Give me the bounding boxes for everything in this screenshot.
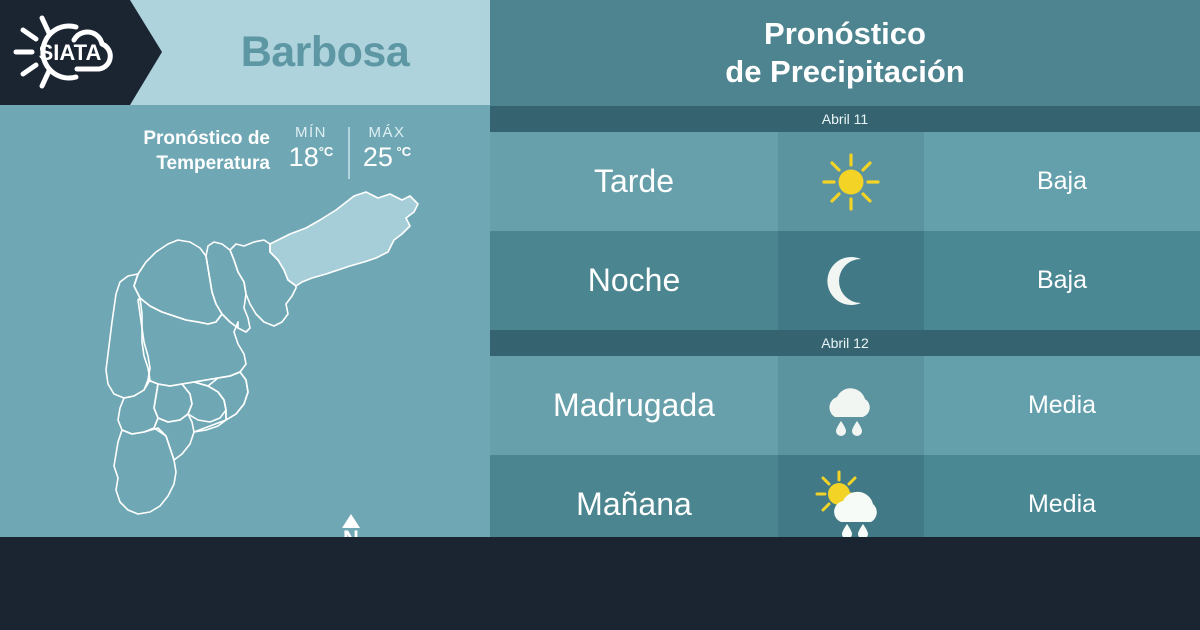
temperature-min-label: MÍN bbox=[295, 124, 327, 141]
precip-level: Media bbox=[1028, 490, 1096, 519]
temperature-max-value: 25 °C bbox=[363, 142, 411, 173]
temperature-max-label: MÁX bbox=[368, 124, 405, 141]
precip-level: Baja bbox=[1037, 167, 1087, 196]
table-row[interactable]: Noche Baja bbox=[490, 231, 1200, 330]
page-title: Barbosa bbox=[160, 0, 490, 105]
forecast-panel: Pronóstico de Precipitación Abril 11 Tar… bbox=[490, 0, 1200, 537]
table-row[interactable]: Tarde bbox=[490, 132, 1200, 231]
sun-icon bbox=[818, 149, 884, 215]
map-svg bbox=[58, 182, 458, 534]
date-bar-day1: Abril 11 bbox=[490, 106, 1200, 132]
period-cell: Madrugada bbox=[490, 356, 778, 455]
temperature-title: Pronóstico de Temperatura bbox=[70, 126, 270, 176]
siata-logo-banner[interactable]: SIATA bbox=[0, 0, 162, 105]
aburra-valley-map[interactable]: N bbox=[58, 182, 458, 534]
infographic-root: Barbosa SIATA Pronóstico de Tempe bbox=[0, 0, 1200, 630]
period-label: Mañana bbox=[576, 486, 692, 523]
max-unit: °C bbox=[397, 144, 412, 159]
temperature-min: MÍN 18°C bbox=[280, 124, 342, 173]
precip-level: Baja bbox=[1037, 266, 1087, 295]
period-label: Madrugada bbox=[553, 387, 715, 424]
forecast-title-line2: de Precipitación bbox=[725, 53, 964, 91]
table-row[interactable]: Madrugada Media bbox=[490, 356, 1200, 455]
min-number: 18 bbox=[289, 142, 319, 172]
min-unit: °C bbox=[319, 144, 334, 159]
temperature-max: MÁX 25 °C bbox=[356, 124, 418, 173]
temperature-title-line2: Temperatura bbox=[156, 153, 270, 174]
temperature-min-value: 18°C bbox=[289, 142, 334, 173]
temperature-title-line1: Pronóstico de bbox=[143, 128, 270, 149]
forecast-title-line1: Pronóstico bbox=[764, 15, 926, 53]
map-region-highlight bbox=[270, 192, 418, 286]
temperature-divider bbox=[348, 127, 350, 179]
moon-rain-icon bbox=[813, 373, 889, 439]
period-cell: Noche bbox=[490, 231, 778, 330]
weather-icon-cell bbox=[778, 231, 924, 330]
forecast-rows: Abril 11 Tarde bbox=[490, 106, 1200, 554]
precip-level: Media bbox=[1028, 391, 1096, 420]
weather-icon-cell bbox=[778, 356, 924, 455]
period-label: Tarde bbox=[594, 163, 674, 200]
sun-cloud-icon: SIATA bbox=[12, 10, 130, 94]
forecast-title: Pronóstico de Precipitación bbox=[490, 0, 1200, 106]
sun-rain-icon bbox=[811, 470, 891, 540]
temperature-values: MÍN 18°C MÁX 25 °C bbox=[280, 124, 418, 179]
level-cell: Baja bbox=[924, 231, 1200, 330]
period-cell: Tarde bbox=[490, 132, 778, 231]
level-cell: Media bbox=[924, 356, 1200, 455]
footer: @siatamedellin www.siata.gov.co Con el a… bbox=[0, 537, 1200, 630]
weather-icon-cell bbox=[778, 132, 924, 231]
left-panel: Barbosa SIATA Pronóstico de Tempe bbox=[0, 0, 490, 537]
logo-text: SIATA bbox=[39, 40, 102, 65]
temperature-block: Pronóstico de Temperatura MÍN 18°C MÁX 2… bbox=[0, 112, 490, 182]
date-bar-day2: Abril 12 bbox=[490, 330, 1200, 356]
level-cell: Baja bbox=[924, 132, 1200, 231]
moon-icon bbox=[821, 251, 881, 311]
period-label: Noche bbox=[588, 262, 681, 299]
max-number: 25 bbox=[363, 142, 393, 172]
